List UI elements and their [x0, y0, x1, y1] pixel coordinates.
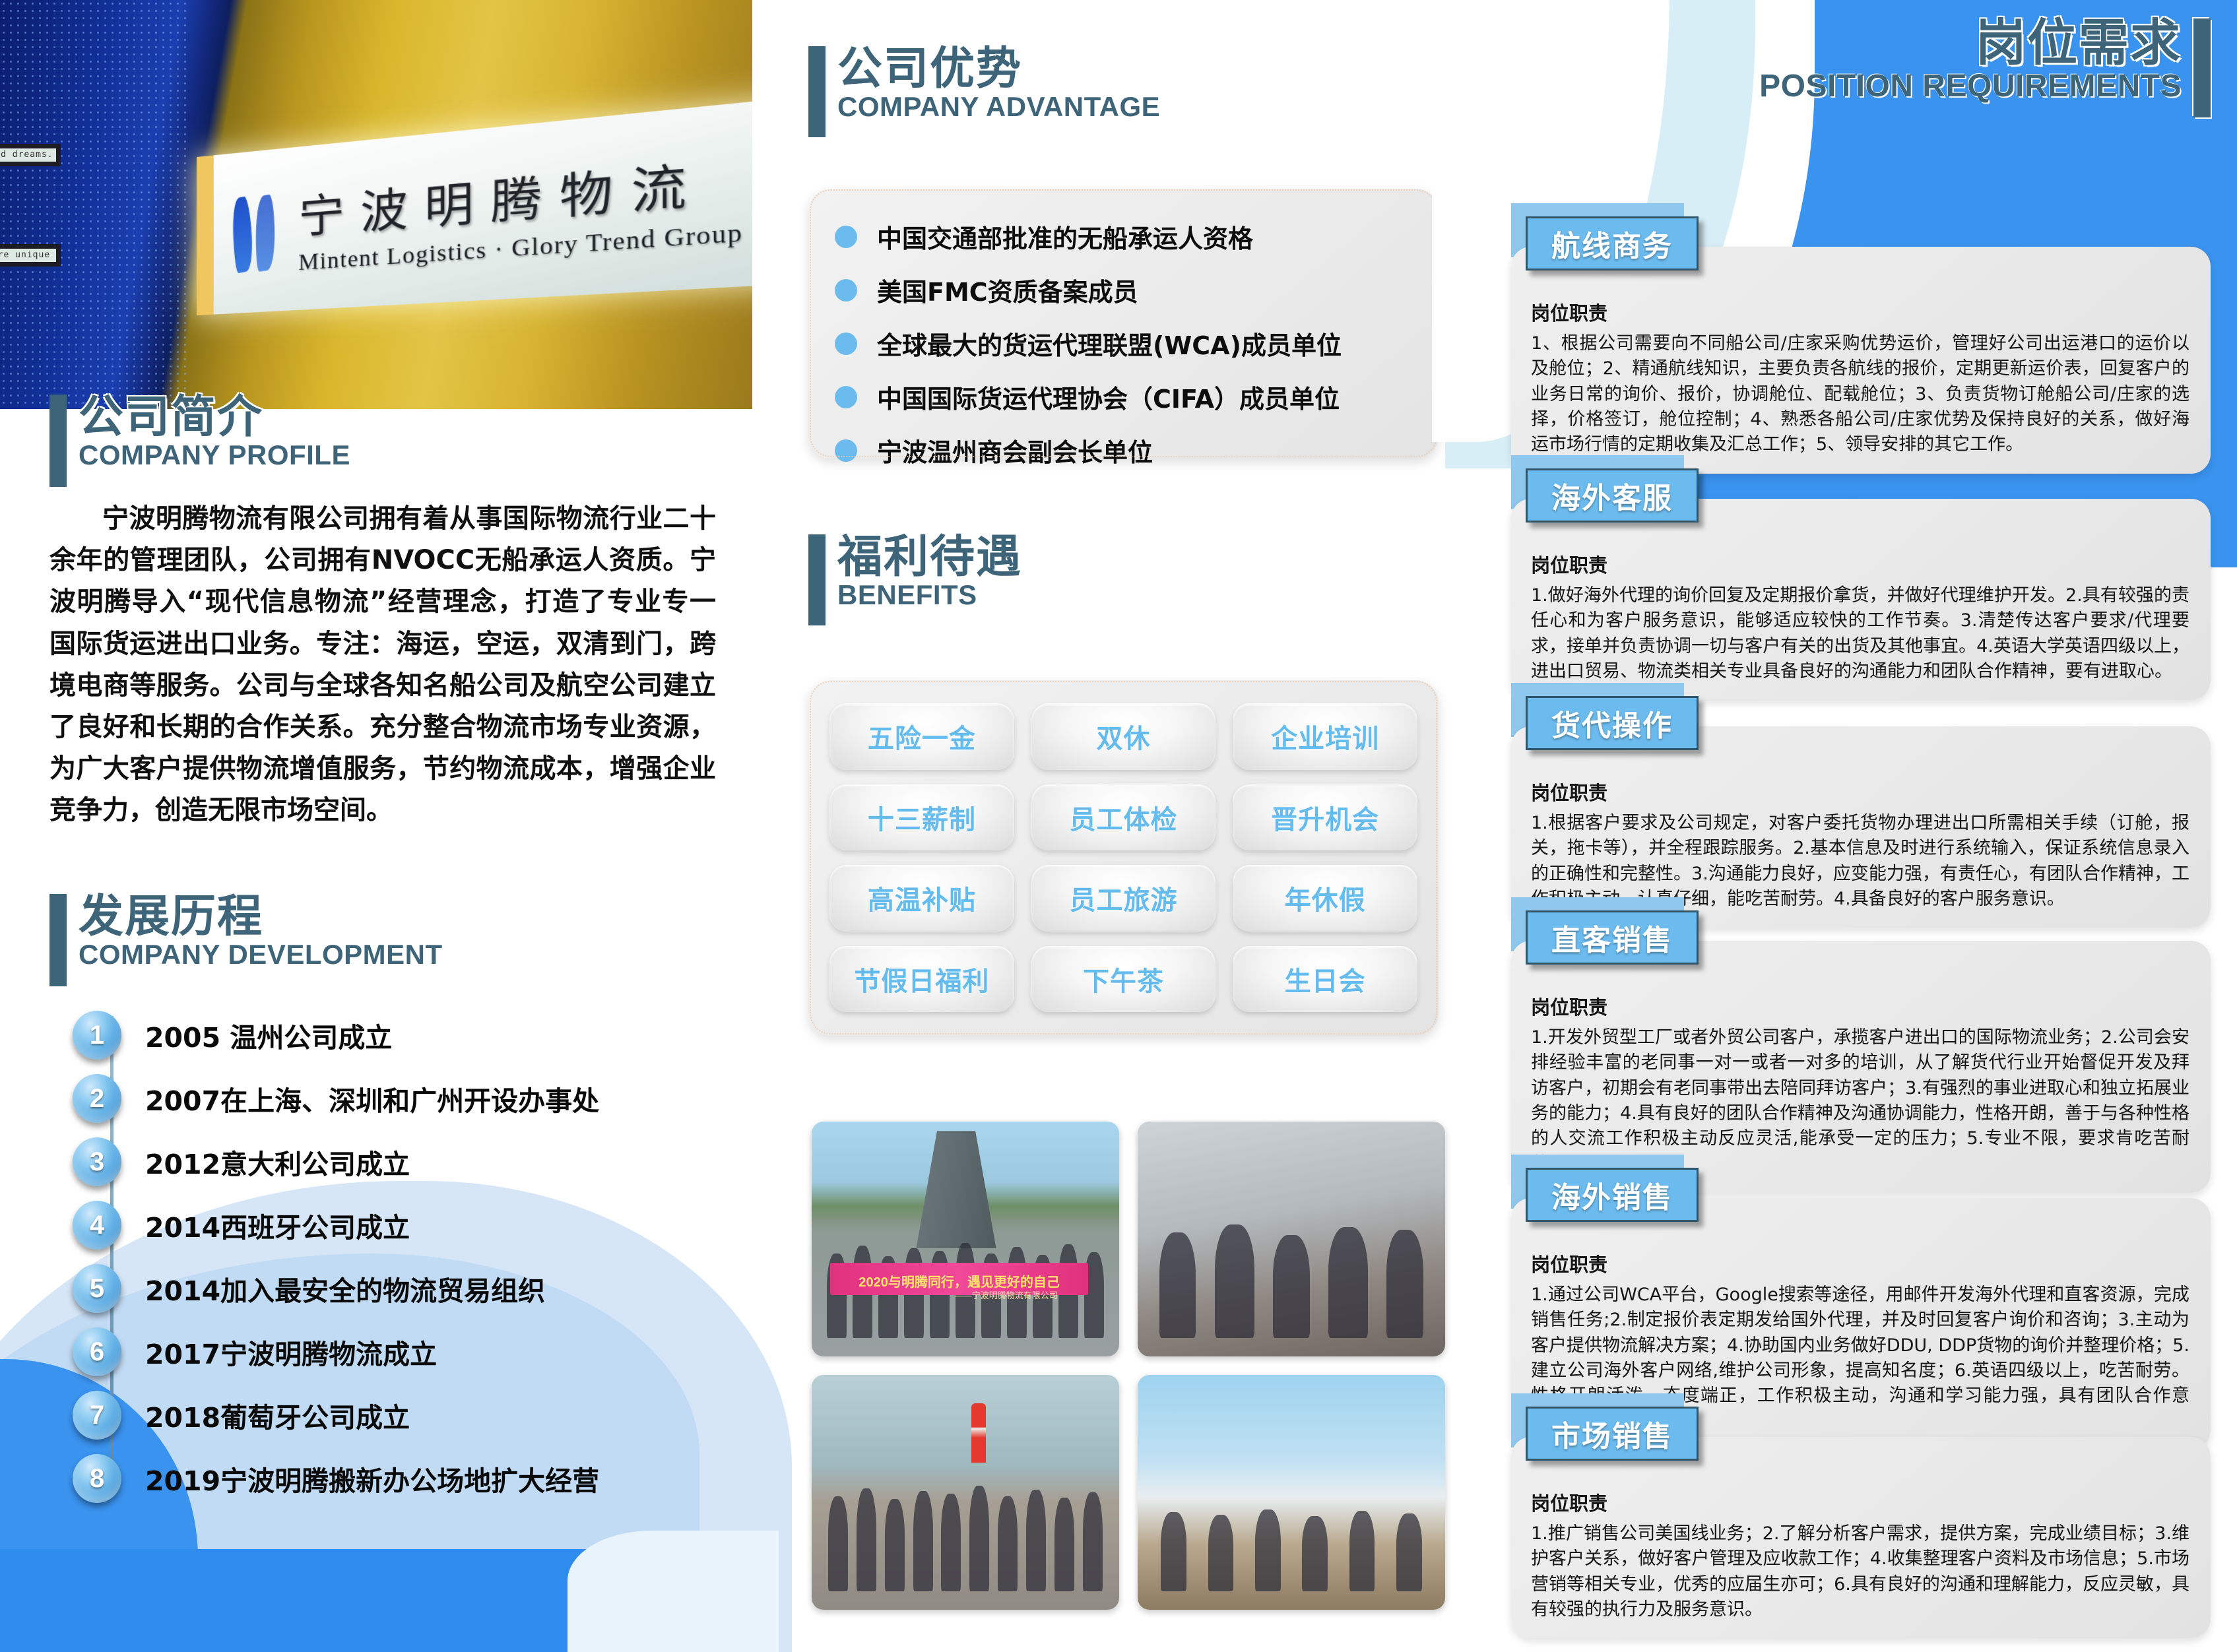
position-requirements-title-cn: 岗位需求: [1759, 18, 2182, 69]
photo-people-silhouettes: [824, 1459, 1107, 1591]
benefit-chip: 高温补贴: [829, 865, 1014, 932]
timeline-number-badge: 8: [73, 1454, 121, 1503]
position-requirements-heading: 岗位需求 POSITION REQUIREMENTS: [1759, 18, 2211, 117]
job-title-tab[interactable]: 直客销售: [1526, 910, 1699, 965]
job-duties-label: 岗位职责: [1531, 550, 2189, 578]
decorative-corner-fade: [567, 1531, 779, 1652]
advantage-item: 中国国际货运代理协会（CIFA）成员单位: [835, 379, 1412, 415]
heading-accent-bar: [49, 894, 67, 986]
benefit-chip: 十三薪制: [829, 784, 1014, 851]
benefits-title-cn: 福利待遇: [837, 534, 1022, 579]
company-advantage-heading: 公司优势 COMPANY ADVANTAGE: [808, 46, 1160, 137]
sail-logo-icon: [228, 185, 290, 277]
advantage-item-label: 中国国际货运代理协会（CIFA）成员单位: [877, 379, 1340, 415]
middle-column: 公司优势 COMPANY ADVANTAGE 中国交通部批准的无船承运人资格 美…: [759, 0, 1485, 1652]
benefit-chip: 员工体检: [1031, 784, 1216, 851]
photo-people-silhouettes: [1150, 1206, 1433, 1337]
benefit-chip: 节假日福利: [829, 946, 1014, 1013]
bullet-dot-icon: [835, 279, 857, 302]
timeline-item: 5 2014加入最安全的物流贸易组织: [73, 1263, 746, 1314]
company-profile-title-cn: 公司简介: [79, 395, 350, 439]
company-advantage-title-cn: 公司优势: [837, 46, 1160, 91]
timeline-number-badge: 2: [73, 1074, 121, 1123]
bullet-dot-icon: [835, 226, 857, 248]
job-title-tab[interactable]: 货代操作: [1526, 696, 1699, 750]
timeline-number-badge: 6: [73, 1327, 121, 1376]
benefit-chip: 五险一金: [829, 703, 1014, 770]
company-advantage-title-en: COMPANY ADVANTAGE: [837, 92, 1160, 121]
advantage-item: 美国FMC资质备案成员: [835, 272, 1412, 308]
benefit-chip: 双休: [1031, 703, 1216, 770]
job-title-tab[interactable]: 航线商务: [1526, 216, 1699, 270]
team-photo-beach: [1138, 1375, 1445, 1610]
benefits-heading: 福利待遇 BENEFITS: [808, 534, 1022, 625]
timeline-number-badge: 4: [73, 1201, 121, 1250]
wall-frame-2: are unique: [0, 244, 61, 267]
heading-accent-bar: [2193, 18, 2211, 117]
advantage-item-label: 中国交通部批准的无船承运人资格: [877, 218, 1253, 255]
company-profile-body: 宁波明腾物流有限公司拥有着从事国际物流行业二十余年的管理团队，公司拥有NVOCC…: [49, 498, 716, 832]
job-duties-label: 岗位职责: [1531, 298, 2189, 326]
company-sign-text: 宁波明腾物流 Mintent Logistics · Glory Trend G…: [290, 141, 744, 276]
heading-accent-bar: [49, 395, 67, 487]
benefit-chip: 生日会: [1233, 946, 1417, 1013]
benefit-chip: 员工旅游: [1031, 865, 1216, 932]
job-duties-label: 岗位职责: [1531, 992, 2189, 1020]
job-duties-text: 1.做好海外代理的询价回复及定期报价拿货，并做好代理维护开发。2.具有较强的责任…: [1531, 583, 2189, 684]
office-entrance-photo: and dreams. are unique 宁波明腾物流 Mintent Lo…: [0, 0, 752, 409]
advantage-item-label: 美国FMC资质备案成员: [877, 272, 1138, 308]
timeline-item-label: 2019宁波明腾搬新办公场地扩大经营: [145, 1459, 599, 1498]
timeline-item-label: 2007在上海、深圳和广州开设办事处: [145, 1079, 599, 1118]
benefit-chip: 企业培训: [1233, 703, 1417, 770]
timeline-item-label: 2014加入最安全的物流贸易组织: [145, 1269, 545, 1308]
left-column: and dreams. are unique 宁波明腾物流 Mintent Lo…: [0, 0, 759, 1652]
team-photo-group-banner: 2020与明腾同行，遇见更好的自己 ——宁波明腾物流有限公司: [812, 1122, 1119, 1356]
job-title-tab[interactable]: 市场销售: [1526, 1407, 1699, 1461]
job-duties-label: 岗位职责: [1531, 1488, 2189, 1516]
development-timeline: 1 2005 温州公司成立 2 2007在上海、深圳和广州开设办事处 3 201…: [73, 1009, 746, 1516]
advantage-item: 中国交通部批准的无船承运人资格: [835, 218, 1412, 255]
right-column: 岗位需求 POSITION REQUIREMENTS 岗位职责 1、根据公司需要…: [1485, 0, 2237, 1652]
timeline-item: 3 2012意大利公司成立: [73, 1136, 746, 1188]
job-duties-text: 1、根据公司需要向不同船公司/庄家采购优势运价，管理好公司出运港口的运价以及舱位…: [1531, 331, 2189, 458]
company-advantage-panel: 中国交通部批准的无船承运人资格 美国FMC资质备案成员 全球最大的货运代理联盟(…: [808, 188, 1439, 459]
advantage-item: 全球最大的货运代理联盟(WCA)成员单位: [835, 325, 1412, 362]
heading-accent-bar: [808, 534, 826, 625]
timeline-item-label: 2018葡萄牙公司成立: [145, 1395, 410, 1435]
job-title-tab[interactable]: 海外销售: [1526, 1168, 1699, 1222]
timeline-number-badge: 1: [73, 1011, 121, 1060]
job-card-body: 岗位职责 1.推广销售公司美国线业务；2.了解分析客户需求，提供方案，完成业绩目…: [1511, 1437, 2211, 1638]
timeline-item: 4 2014西班牙公司成立: [73, 1199, 746, 1251]
company-profile-heading: 公司简介 COMPANY PROFILE: [49, 395, 350, 487]
company-profile-title-en: COMPANY PROFILE: [79, 441, 350, 470]
benefit-chip: 年休假: [1233, 865, 1417, 932]
company-development-title-cn: 发展历程: [79, 894, 443, 939]
timeline-item: 1 2005 温州公司成立: [73, 1009, 746, 1061]
timeline-item: 2 2007在上海、深圳和广州开设办事处: [73, 1073, 746, 1124]
timeline-item: 7 2018葡萄牙公司成立: [73, 1389, 746, 1441]
photo-banner-caption: 2020与明腾同行，遇见更好的自己: [836, 1271, 1082, 1290]
brochure-page: and dreams. are unique 宁波明腾物流 Mintent Lo…: [0, 0, 2237, 1652]
company-sign: 宁波明腾物流 Mintent Logistics · Glory Trend G…: [197, 92, 752, 315]
timeline-number-badge: 3: [73, 1137, 121, 1186]
world-map-dot-pattern: [0, 0, 191, 409]
timeline-item-label: 2014西班牙公司成立: [145, 1205, 410, 1245]
bullet-dot-icon: [835, 386, 857, 408]
heading-accent-bar: [808, 46, 826, 137]
timeline-number-badge: 5: [73, 1264, 121, 1313]
timeline-item-label: 2012意大利公司成立: [145, 1142, 410, 1182]
job-duties-label: 岗位职责: [1531, 1250, 2189, 1277]
bullet-dot-icon: [835, 333, 857, 355]
benefits-panel: 五险一金 双休 企业培训 十三薪制 员工体检 晋升机会 高温补贴 员工旅游 年休…: [808, 680, 1439, 1036]
photo-people-silhouettes: [1150, 1459, 1433, 1591]
job-card-body: 岗位职责 1、根据公司需要向不同船公司/庄家采购优势运价，管理好公司出运港口的运…: [1511, 247, 2211, 474]
photo-banner-subcaption: ——宁波明腾物流有限公司: [836, 1288, 1082, 1301]
timeline-number-badge: 7: [73, 1391, 121, 1440]
team-photo-office-snack: [1138, 1122, 1445, 1356]
advantage-item-label: 宁波温州商会副会长单位: [877, 432, 1153, 468]
team-photo-lighthouse: [812, 1375, 1119, 1610]
job-title-tab[interactable]: 海外客服: [1526, 468, 1699, 523]
wall-frame-1: and dreams.: [0, 144, 61, 166]
company-development-title-en: COMPANY DEVELOPMENT: [79, 940, 443, 969]
benefit-chip: 下午茶: [1031, 946, 1216, 1013]
position-requirements-title-en: POSITION REQUIREMENTS: [1759, 70, 2182, 103]
benefits-grid: 五险一金 双休 企业培训 十三薪制 员工体检 晋升机会 高温补贴 员工旅游 年休…: [829, 703, 1417, 1012]
timeline-item-label: 2017宁波明腾物流成立: [145, 1332, 437, 1372]
advantage-item: 宁波温州商会副会长单位: [835, 432, 1412, 468]
company-development-heading: 发展历程 COMPANY DEVELOPMENT: [49, 894, 443, 986]
timeline-item-label: 2005 温州公司成立: [145, 1015, 392, 1055]
job-duties-label: 岗位职责: [1531, 778, 2189, 806]
job-card-body: 岗位职责 1.做好海外代理的询价回复及定期报价拿货，并做好代理维护开发。2.具有…: [1511, 499, 2211, 700]
benefit-chip: 晋升机会: [1233, 784, 1417, 851]
team-photo-grid: 2020与明腾同行，遇见更好的自己 ——宁波明腾物流有限公司: [812, 1122, 1445, 1610]
benefits-title-en: BENEFITS: [837, 581, 1022, 610]
advantage-item-label: 全球最大的货运代理联盟(WCA)成员单位: [877, 325, 1342, 362]
timeline-item: 8 2019宁波明腾搬新办公场地扩大经营: [73, 1453, 746, 1504]
bullet-dot-icon: [835, 439, 857, 462]
job-duties-text: 1.推广销售公司美国线业务；2.了解分析客户需求，提供方案，完成业绩目标；3.维…: [1531, 1521, 2189, 1622]
timeline-item: 6 2017宁波明腾物流成立: [73, 1326, 746, 1378]
